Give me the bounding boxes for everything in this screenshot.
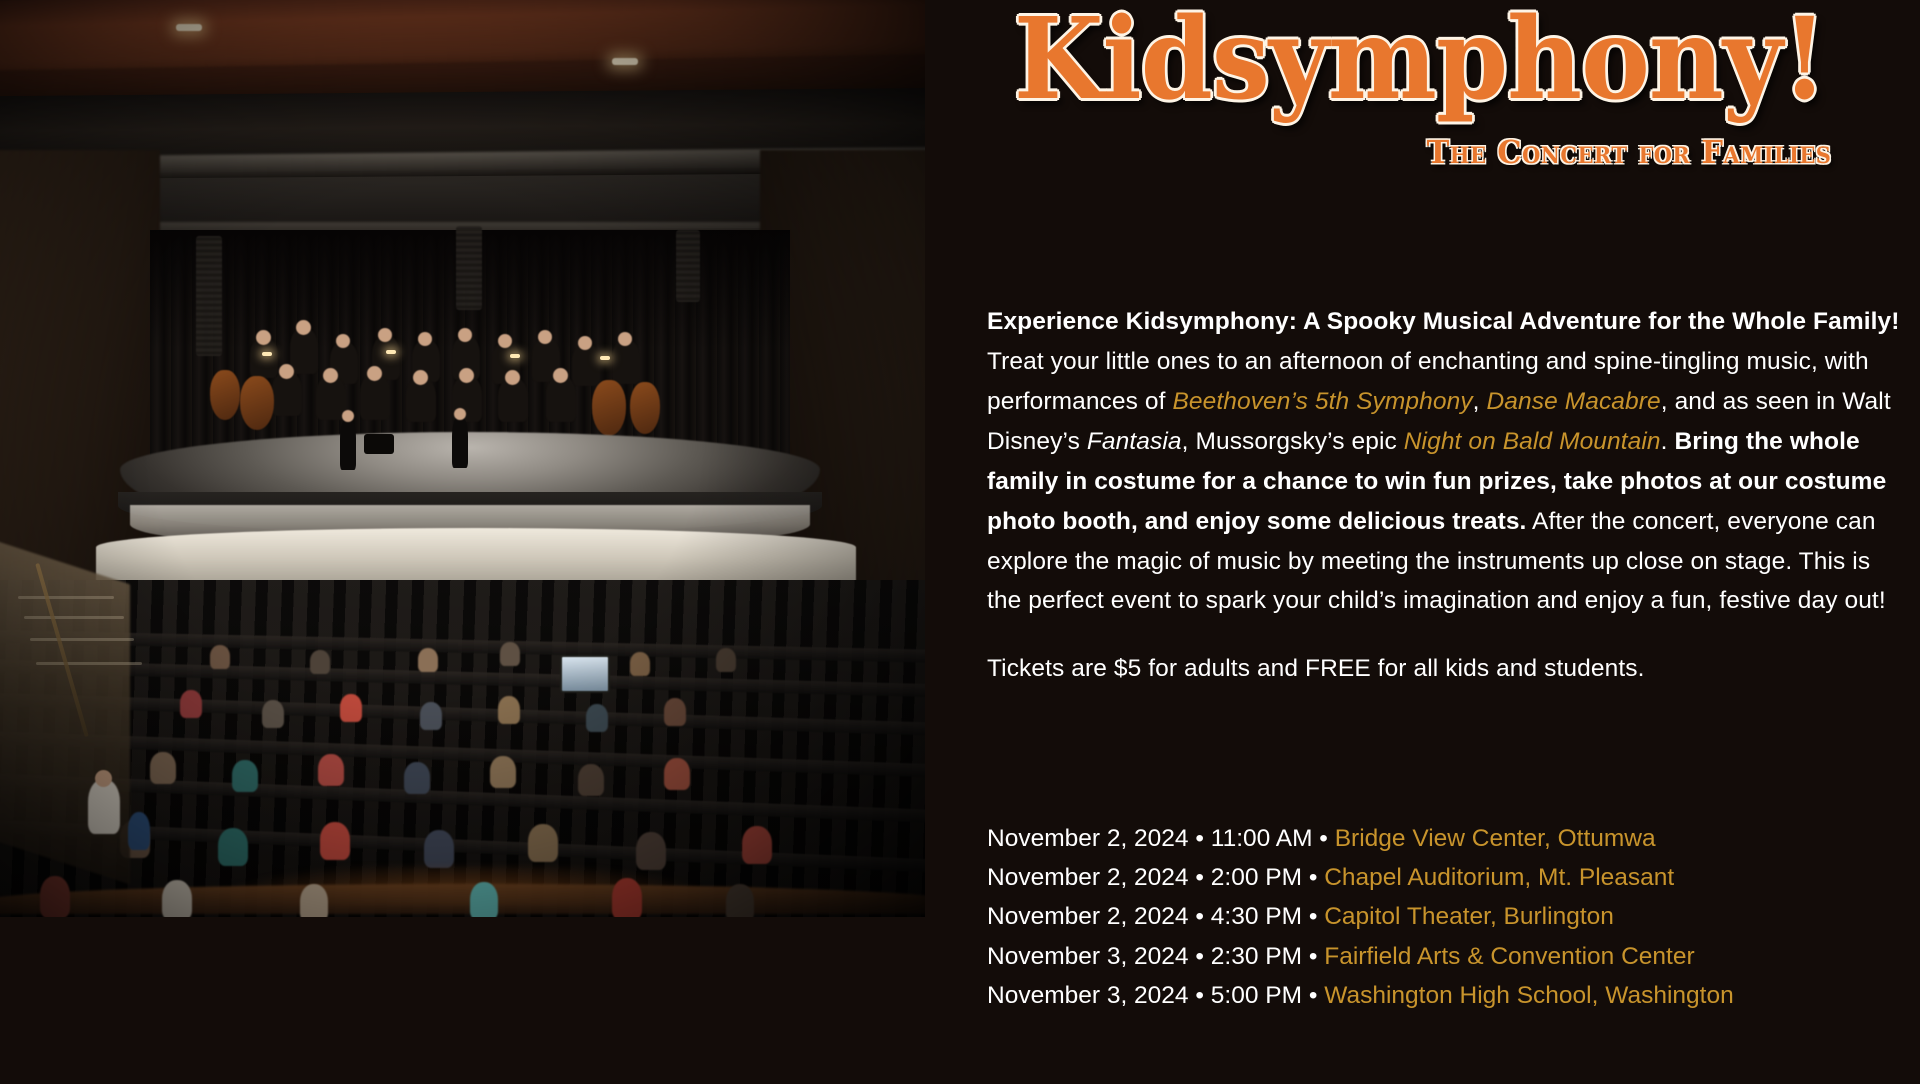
musician-head [553,368,568,383]
schedule-time: 11:00 AM [1211,825,1313,852]
schedule-date: November 2, 2024 [987,903,1189,930]
schedule-separator: • [1189,982,1211,1009]
audience-member [210,645,230,669]
schedule-time: 5:00 PM [1211,982,1302,1009]
conductor [340,418,356,470]
ticket-info: Tickets are $5 for adults and FREE for a… [987,649,1907,689]
musician-head [413,370,428,385]
description-lead: Experience Kidsymphony: A Spooky Musical… [987,308,1900,335]
schedule-separator: • [1189,864,1211,891]
schedule-row: November 3, 2024 • 5:00 PM • Washington … [987,976,1917,1015]
cello [592,380,626,436]
performance-schedule: November 2, 2024 • 11:00 AM • Bridge Vie… [987,819,1917,1015]
schedule-row: November 2, 2024 • 11:00 AM • Bridge Vie… [987,819,1917,858]
work-title-beethoven: Beethoven’s 5th Symphony [1172,388,1472,415]
audience-member [490,756,516,788]
event-description: Experience Kidsymphony: A Spooky Musical… [987,302,1907,717]
stair-step [24,616,124,619]
performer-head [454,408,466,420]
work-title-fantasia: Fantasia [1087,428,1182,455]
cello [630,382,660,434]
stage-speaker [676,230,700,302]
musician-head [538,330,552,344]
stair-step [18,596,114,599]
stage-monitor [364,434,394,454]
musician [572,344,600,386]
audience-member [162,880,192,917]
logo-subtitle: The Concert for Families [969,136,1872,168]
musician-head [578,336,592,350]
audience-member [664,758,690,790]
audience-member [232,760,258,792]
schedule-separator: • [1302,903,1324,930]
schedule-time: 2:30 PM [1211,943,1302,970]
musician-head [256,330,271,345]
sound-booth-monitor [560,655,610,693]
schedule-separator: • [1302,864,1324,891]
audience-member [424,830,454,868]
cello [240,376,274,430]
schedule-separator: • [1189,825,1211,852]
ceiling-light [176,24,202,31]
kidsymphony-logo: Kidsymphony! The Concert for Families [945,0,1895,168]
concert-hall-photo [0,0,925,917]
performer-on-stage [452,416,468,468]
description-text-5: . [1661,428,1675,455]
audience-member [300,884,328,917]
schedule-time: 4:30 PM [1211,903,1302,930]
schedule-venue-link[interactable]: Washington High School, Washington [1324,982,1733,1009]
musician-head [618,332,632,346]
schedule-venue-link[interactable]: Fairfield Arts & Convention Center [1324,943,1694,970]
schedule-separator: • [1189,903,1211,930]
stair-step [36,662,142,665]
audience-member [612,878,642,917]
audience-member [218,828,248,866]
schedule-time: 2:00 PM [1211,864,1302,891]
schedule-separator: • [1302,943,1324,970]
schedule-date: November 3, 2024 [987,982,1189,1009]
audience-member [742,826,772,864]
description-text-4: , Mussorgsky’s epic [1182,428,1404,455]
musician-head [458,328,472,342]
schedule-separator: • [1312,825,1334,852]
music-stand-light [262,352,272,356]
musician-head [279,364,294,379]
work-title-night-on-bald-mountain: Night on Bald Mountain [1404,428,1661,455]
music-stand-light [386,350,396,354]
audience-member [40,876,70,917]
audience-member [500,642,520,666]
audience-member [586,704,608,732]
schedule-date: November 2, 2024 [987,825,1189,852]
audience-member [420,702,442,730]
audience-member [150,752,176,784]
schedule-venue-link[interactable]: Chapel Auditorium, Mt. Pleasant [1324,864,1674,891]
musician-head [336,334,350,348]
conductor-head [342,410,354,422]
musician-head [459,368,474,383]
schedule-separator: • [1189,943,1211,970]
rear-rail [0,884,925,914]
musician-head [498,334,512,348]
description-paragraph: Experience Kidsymphony: A Spooky Musical… [987,302,1907,621]
audience-member [578,764,604,796]
audience-member [310,650,330,674]
schedule-row: November 2, 2024 • 2:00 PM • Chapel Audi… [987,858,1917,897]
musician-head [296,320,311,335]
work-title-danse-macabre: Danse Macabre [1487,388,1661,415]
cello [210,370,240,420]
audience-member [528,824,558,862]
schedule-date: November 2, 2024 [987,864,1189,891]
schedule-row: November 3, 2024 • 2:30 PM • Fairfield A… [987,937,1917,976]
musician-head [323,368,338,383]
music-stand-light [510,354,520,358]
stair-step [30,638,134,641]
audience-member [320,822,350,860]
audience-member [630,652,650,676]
audience-member [418,648,438,672]
audience-head [95,770,112,787]
music-stand-light [600,356,610,360]
description-text-2: , [1473,388,1487,415]
schedule-date: November 3, 2024 [987,943,1189,970]
audience-member [262,700,284,728]
audience-member [340,694,362,722]
audience-member [318,754,344,786]
schedule-venue-link[interactable]: Bridge View Center, Ottumwa [1335,825,1656,852]
audience-member-standing [88,780,120,834]
musician-head [418,332,432,346]
audience-member [470,882,498,917]
audience-member [716,648,736,672]
musician-head [367,366,382,381]
schedule-row: November 2, 2024 • 4:30 PM • Capitol The… [987,897,1917,936]
event-promo-page: Kidsymphony! The Concert for Families Ex… [0,0,1920,1084]
schedule-venue-link[interactable]: Capitol Theater, Burlington [1324,903,1614,930]
musician [612,340,640,384]
audience-member [636,832,666,870]
audience-member [664,698,686,726]
ceiling-light [612,58,638,65]
audience-member [726,884,754,917]
audience-member [498,696,520,724]
musician-head [505,370,520,385]
child-standing [128,812,150,850]
event-details-panel: Kidsymphony! The Concert for Families Ex… [925,0,1920,1084]
audience-member [180,690,202,718]
musician-head [378,328,392,342]
stage-speaker [456,226,482,310]
audience-member [404,762,430,794]
schedule-separator: • [1302,982,1324,1009]
logo-title: Kidsymphony! [983,4,1857,116]
stage-speaker [196,236,222,356]
